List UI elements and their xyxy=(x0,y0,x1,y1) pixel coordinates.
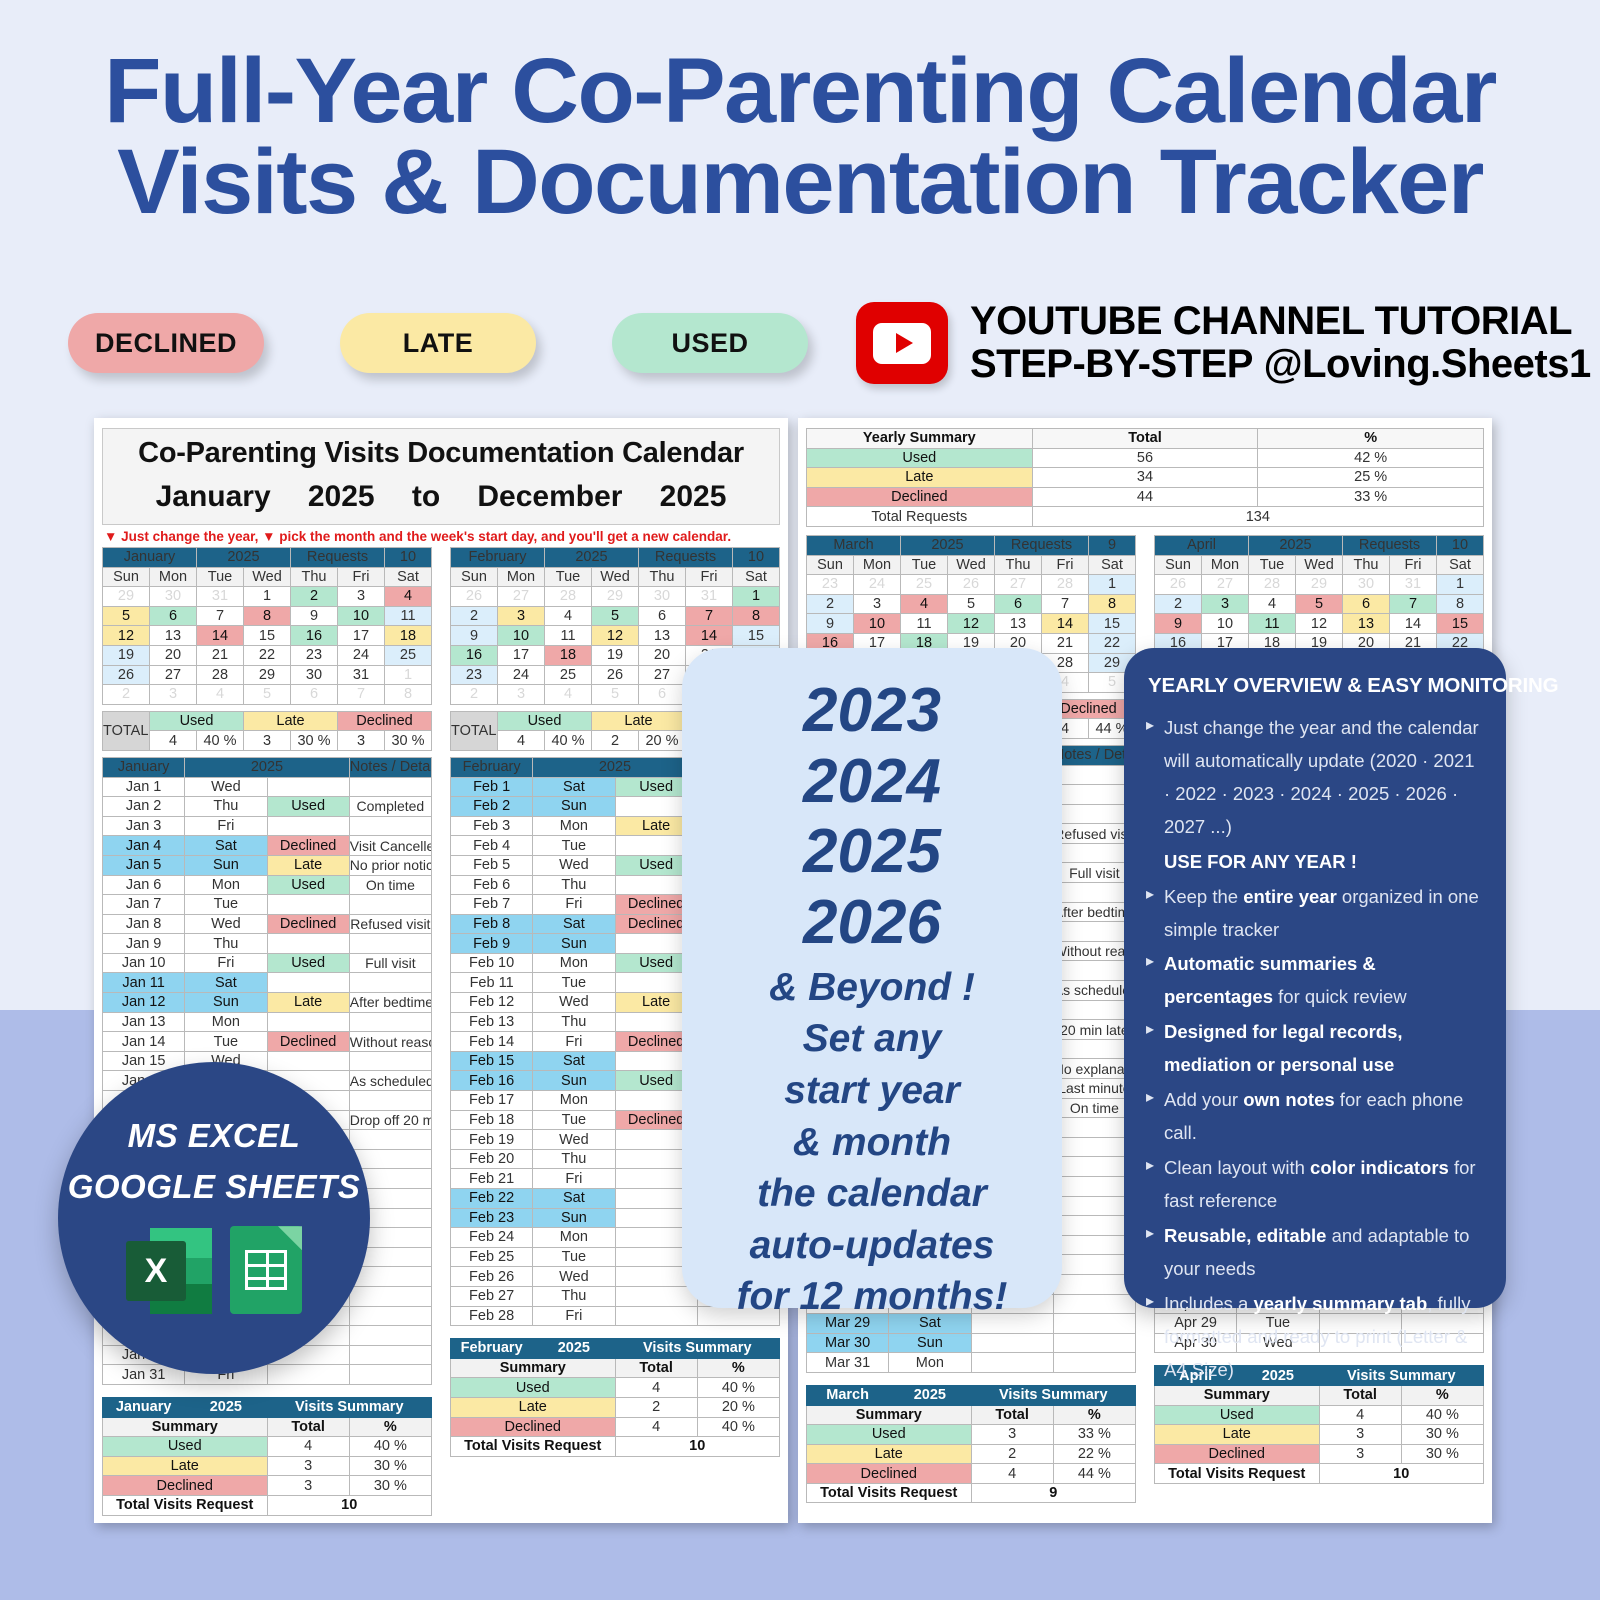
table-row: Declined444 % xyxy=(807,1464,1136,1484)
yearly-summary-pct: 33 % xyxy=(1258,487,1484,507)
notes-status[interactable]: Used xyxy=(267,953,349,973)
yearly-summary-total: 34 xyxy=(1032,468,1258,488)
calendar-day-cell[interactable]: 12 xyxy=(592,626,639,646)
notes-text[interactable]: Without reason xyxy=(349,1032,431,1052)
table-row: 9101112131415 xyxy=(807,614,1136,634)
summary-title: Visits Summary xyxy=(971,1385,1136,1405)
calendar-day-cell[interactable]: 9 xyxy=(291,606,338,626)
callout-sub-line: Set any xyxy=(803,1016,942,1062)
calendar-day-cell[interactable]: 1 xyxy=(385,665,432,685)
calendar-day-cell[interactable]: 24 xyxy=(338,645,385,665)
yearly-summary-header: Total xyxy=(1032,429,1258,449)
totals-label: TOTALS xyxy=(103,711,150,750)
notes-text[interactable] xyxy=(349,1091,431,1111)
notes-dow: Thu xyxy=(185,797,267,817)
calendar-day-cell[interactable]: 1 xyxy=(1437,575,1484,595)
calendar-day-cell[interactable]: 7 xyxy=(686,606,733,626)
calendar-day-cell[interactable]: 3 xyxy=(498,606,545,626)
list-item: Jan 13Mon xyxy=(103,1012,432,1032)
summary-row-label: Used xyxy=(1155,1405,1320,1425)
from-year[interactable]: 2025 xyxy=(308,480,375,514)
to-month[interactable]: December xyxy=(477,480,622,514)
table-row: March2025Requests9 xyxy=(807,535,1136,555)
calendar-day-cell[interactable]: 29 xyxy=(103,587,150,607)
summary-row-total: 3 xyxy=(971,1425,1053,1445)
calendar-dow: Thu xyxy=(995,555,1042,575)
calendar-month-name[interactable]: April xyxy=(1155,535,1249,555)
notes-text[interactable] xyxy=(349,1306,431,1326)
table-row: January2025Requests10 xyxy=(103,548,432,568)
calendar-day-cell[interactable]: 8 xyxy=(733,606,780,626)
calendar-day-cell[interactable]: 4 xyxy=(1249,594,1296,614)
notes-status[interactable] xyxy=(267,895,349,915)
notes-status[interactable] xyxy=(971,1353,1053,1373)
summary-row-total: 2 xyxy=(971,1444,1053,1464)
notes-status[interactable] xyxy=(267,934,349,954)
calendar-day-cell[interactable]: 7 xyxy=(1390,594,1437,614)
table-row: 2324252627281 xyxy=(807,575,1136,595)
calendar-dow: Wed xyxy=(948,555,995,575)
notes-day: Jan 3 xyxy=(103,816,185,836)
calendar-year[interactable]: 2025 xyxy=(901,535,995,555)
notes-day: Feb 20 xyxy=(451,1149,533,1169)
notes-status[interactable] xyxy=(615,1286,697,1306)
notes-status[interactable] xyxy=(267,1365,349,1385)
calendar-day-cell[interactable]: 12 xyxy=(948,614,995,634)
calendar-day-cell[interactable]: 31 xyxy=(197,587,244,607)
calendar-day-cell[interactable]: 25 xyxy=(901,575,948,595)
summary-row-label: Declined xyxy=(807,1464,972,1484)
calendar-day-cell[interactable]: 7 xyxy=(197,606,244,626)
notes-text[interactable] xyxy=(349,934,431,954)
calendar-day-cell[interactable]: 21 xyxy=(1042,633,1089,653)
summary-row-pct: 33 % xyxy=(1053,1425,1135,1445)
calendar-day-cell[interactable]: 29 xyxy=(592,587,639,607)
calendar-day-cell[interactable]: 23 xyxy=(807,575,854,595)
notes-status[interactable] xyxy=(971,1333,1053,1353)
notes-dow: Sun xyxy=(533,1071,615,1091)
calendar-day-cell[interactable]: 27 xyxy=(150,665,197,685)
summary-year: 2025 xyxy=(185,1397,267,1417)
list-item: Jan 11Sat xyxy=(103,973,432,993)
from-month[interactable]: January xyxy=(156,480,271,514)
notes-status[interactable]: Late xyxy=(267,993,349,1013)
calendar-day-cell[interactable]: 28 xyxy=(1042,575,1089,595)
feature-item: Reusable, editable and adaptable to your… xyxy=(1146,1220,1484,1286)
notes-text[interactable]: Visit Cancelled xyxy=(349,836,431,856)
calendar-day-cell[interactable]: 3 xyxy=(150,685,197,705)
calendar-day-cell[interactable]: 5 xyxy=(1296,594,1343,614)
feature-item: Automatic summaries & percentages for qu… xyxy=(1146,948,1484,1014)
yearly-summary-pct: 42 % xyxy=(1258,448,1484,468)
summary-year: 2025 xyxy=(889,1385,971,1405)
calendar-day-cell[interactable]: 16 xyxy=(291,626,338,646)
calendar-day-cell[interactable]: 8 xyxy=(1089,594,1136,614)
totals-late-count: 2 xyxy=(592,731,639,751)
notes-dow: Sun xyxy=(533,1208,615,1228)
calendar-month-name[interactable]: March xyxy=(807,535,901,555)
summary-col-pct: % xyxy=(349,1417,431,1437)
notes-dow: Sat xyxy=(533,914,615,934)
calendar-day-cell[interactable]: 22 xyxy=(1089,633,1136,653)
summary-total-label: Total Visits Request xyxy=(1155,1464,1320,1484)
notes-text[interactable] xyxy=(349,895,431,915)
calendar-day-cell[interactable]: 7 xyxy=(1042,594,1089,614)
notes-dow: Sun xyxy=(533,934,615,954)
notes-dow: Thu xyxy=(533,1012,615,1032)
notes-text[interactable] xyxy=(349,1326,431,1346)
table-row: 2627282930311 xyxy=(1155,575,1484,595)
calendar-day-cell[interactable]: 6 xyxy=(639,685,686,705)
excel-icon: X xyxy=(126,1228,212,1314)
calendar-day-cell[interactable]: 2 xyxy=(291,587,338,607)
calendar-day-cell[interactable]: 12 xyxy=(1296,614,1343,634)
table-row: SummaryTotal% xyxy=(451,1358,780,1378)
calendar-day-cell[interactable]: 20 xyxy=(150,645,197,665)
calendar-day-cell[interactable]: 1 xyxy=(733,587,780,607)
notes-day: Jan 7 xyxy=(103,895,185,915)
calendar-day-cell[interactable]: 2 xyxy=(807,594,854,614)
calendar-day-cell[interactable]: 30 xyxy=(639,587,686,607)
callout-sub-line: for 12 months! xyxy=(737,1274,1008,1320)
to-word: to xyxy=(412,480,440,514)
notes-text[interactable] xyxy=(349,1286,431,1306)
calendar-day-cell[interactable]: 25 xyxy=(385,645,432,665)
sheet-main-title: Co-Parenting Visits Documentation Calend… xyxy=(103,437,779,470)
calendar-day-cell[interactable]: 5 xyxy=(592,685,639,705)
notes-day: Feb 26 xyxy=(451,1267,533,1287)
table-row: 12131415161718 xyxy=(103,626,432,646)
calendar-day-cell[interactable]: 28 xyxy=(545,587,592,607)
calendar-day-cell[interactable]: 10 xyxy=(1202,614,1249,634)
notes-text[interactable]: Completed xyxy=(349,797,431,817)
calendar-day-cell[interactable]: 15 xyxy=(244,626,291,646)
table-row: Declined330 % xyxy=(1155,1444,1484,1464)
calendar-day-cell[interactable]: 20 xyxy=(639,645,686,665)
notes-text[interactable] xyxy=(1053,1333,1135,1353)
calendar-day-cell[interactable]: 29 xyxy=(1296,575,1343,595)
calendar-day-cell[interactable]: 26 xyxy=(1155,575,1202,595)
calendar-day-cell[interactable]: 26 xyxy=(103,665,150,685)
calendar-day-cell[interactable]: 5 xyxy=(592,606,639,626)
notes-day: Feb 15 xyxy=(451,1051,533,1071)
badge-declined: DECLINED xyxy=(68,313,264,373)
calendar-day-cell[interactable]: 17 xyxy=(498,645,545,665)
calendar-day-cell[interactable]: 13 xyxy=(639,626,686,646)
calendar-month-name[interactable]: January xyxy=(103,548,197,568)
calendar-day-cell[interactable]: 27 xyxy=(498,587,545,607)
totals-declined-label: Declined xyxy=(338,711,432,731)
calendar-day-cell[interactable]: 2 xyxy=(451,685,498,705)
notes-day: Feb 21 xyxy=(451,1169,533,1189)
calendar-day-cell[interactable]: 9 xyxy=(1155,614,1202,634)
notes-day: Feb 2 xyxy=(451,797,533,817)
notes-status[interactable]: Declined xyxy=(267,914,349,934)
notes-text[interactable] xyxy=(349,973,431,993)
calendar-day-cell[interactable]: 18 xyxy=(385,626,432,646)
month-column-january: January2025Requests10SunMonTueWedThuFriS… xyxy=(102,547,432,1516)
notes-status[interactable] xyxy=(615,1306,697,1326)
title-line-2: Visits & Documentation Tracker xyxy=(25,137,1575,228)
calendar-day-cell[interactable]: 17 xyxy=(338,626,385,646)
notes-text[interactable] xyxy=(349,1051,431,1071)
table-row: Total Visits Request9 xyxy=(807,1483,1136,1503)
calendar-day-cell[interactable]: 10 xyxy=(854,614,901,634)
notes-dow: Mon xyxy=(533,816,615,836)
summary-row-total: 3 xyxy=(267,1456,349,1476)
calendar-day-cell[interactable]: 11 xyxy=(385,606,432,626)
notes-text[interactable] xyxy=(1053,1314,1135,1334)
calendar-day-cell[interactable]: 9 xyxy=(807,614,854,634)
totals-late-count: 3 xyxy=(244,731,291,751)
calendar-day-cell[interactable]: 16 xyxy=(451,645,498,665)
calendar-day-cell[interactable]: 4 xyxy=(197,685,244,705)
calendar-day-cell[interactable]: 15 xyxy=(1089,614,1136,634)
calendar-day-cell[interactable]: 4 xyxy=(545,606,592,626)
youtube-icon xyxy=(856,302,948,384)
notes-day: Jan 10 xyxy=(103,953,185,973)
totals-late-pct: 30 % xyxy=(291,731,338,751)
calendar-day-cell[interactable]: 14 xyxy=(686,626,733,646)
calendar-day-cell[interactable]: 6 xyxy=(639,606,686,626)
calendar-day-cell[interactable]: 26 xyxy=(948,575,995,595)
calendar-day-cell[interactable]: 11 xyxy=(901,614,948,634)
calendar-day-cell[interactable]: 31 xyxy=(338,665,385,685)
notes-text[interactable]: Full visit xyxy=(349,953,431,973)
notes-status[interactable] xyxy=(267,1012,349,1032)
notes-text[interactable] xyxy=(1053,1294,1135,1314)
calendar-day-cell[interactable]: 3 xyxy=(854,594,901,614)
calendar-day-cell[interactable]: 14 xyxy=(1390,614,1437,634)
calendar-day-cell[interactable]: 2 xyxy=(451,606,498,626)
notes-text[interactable] xyxy=(349,816,431,836)
calendar-day-cell[interactable]: 1 xyxy=(244,587,291,607)
notes-text[interactable] xyxy=(349,777,431,797)
notes-text[interactable] xyxy=(349,1130,431,1150)
calendar-day-cell[interactable]: 26 xyxy=(592,665,639,685)
calendar-day-cell[interactable]: 2 xyxy=(1155,594,1202,614)
calendar-day-cell[interactable]: 30 xyxy=(150,587,197,607)
notes-day: Jan 9 xyxy=(103,934,185,954)
calendar-day-cell[interactable]: 22 xyxy=(244,645,291,665)
yearly-summary-total: 44 xyxy=(1032,487,1258,507)
calendar-day-cell[interactable]: 13 xyxy=(150,626,197,646)
notes-status[interactable]: Used xyxy=(267,797,349,817)
calendar-dow: Sun xyxy=(451,567,498,587)
notes-day: Jan 1 xyxy=(103,777,185,797)
calendar-day-cell[interactable]: 5 xyxy=(103,606,150,626)
notes-text[interactable]: Drop off 20 min late xyxy=(349,1110,431,1130)
calendar-day-cell[interactable]: 31 xyxy=(686,587,733,607)
table-row: March2025Visits Summary xyxy=(807,1385,1136,1405)
excel-letter: X xyxy=(126,1241,186,1301)
calendar-dow: Tue xyxy=(545,567,592,587)
calendar-day-cell[interactable]: 13 xyxy=(995,614,1042,634)
notes-dow: Thu xyxy=(533,1149,615,1169)
calendar-day-cell[interactable]: 30 xyxy=(291,665,338,685)
calendar-day-cell[interactable]: 23 xyxy=(451,665,498,685)
calendar-month-name[interactable]: February xyxy=(451,548,545,568)
notes-day: Feb 1 xyxy=(451,777,533,797)
summary-month: February xyxy=(451,1339,533,1359)
calendar-day-cell[interactable]: 2 xyxy=(103,685,150,705)
calendar-day-cell[interactable]: 24 xyxy=(854,575,901,595)
calendar-day-cell[interactable]: 30 xyxy=(1343,575,1390,595)
sheet-range: January 2025 to December 2025 xyxy=(103,480,779,514)
calendar-dow: Sun xyxy=(807,555,854,575)
notes-text[interactable] xyxy=(349,1012,431,1032)
table-row: April2025Requests10 xyxy=(1155,535,1484,555)
notes-text[interactable]: On time xyxy=(349,875,431,895)
callout-sub-line: auto-updates xyxy=(750,1223,995,1269)
calendar-day-cell[interactable]: 4 xyxy=(901,594,948,614)
notes-text[interactable]: Refused visit xyxy=(349,914,431,934)
table-row: Yearly SummaryTotal% xyxy=(807,429,1484,449)
youtube-line-2: STEP-BY-STEP @Loving.Sheets1 xyxy=(970,343,1591,386)
youtube-line-1: YOUTUBE CHANNEL TUTORIAL xyxy=(970,300,1591,343)
calendar-day-cell[interactable]: 6 xyxy=(995,594,1042,614)
notes-status[interactable] xyxy=(267,816,349,836)
calendar-day-cell[interactable]: 4 xyxy=(545,685,592,705)
calendar-day-cell[interactable]: 27 xyxy=(1202,575,1249,595)
summary-col-label: Summary xyxy=(807,1405,972,1425)
summary-col-label: Summary xyxy=(1155,1385,1320,1405)
calendar-dow: Mon xyxy=(150,567,197,587)
calendar-requests-count: 9 xyxy=(1089,535,1136,555)
calendar-day-cell[interactable]: 13 xyxy=(1343,614,1390,634)
calendar-year[interactable]: 2025 xyxy=(545,548,639,568)
calendar-day-cell[interactable]: 6 xyxy=(150,606,197,626)
yearly-total-value: 134 xyxy=(1032,507,1483,527)
calendar-day-cell[interactable]: 15 xyxy=(1437,614,1484,634)
table-row: 2345678 xyxy=(451,606,780,626)
calendar-day-cell[interactable]: 3 xyxy=(498,685,545,705)
yearly-summary-label: Late xyxy=(807,468,1033,488)
summary-col-total: Total xyxy=(267,1417,349,1437)
summary-col-total: Total xyxy=(971,1405,1053,1425)
calendar-dow: Thu xyxy=(639,567,686,587)
summary-row-label: Late xyxy=(451,1397,616,1417)
calendar-day-cell[interactable]: 27 xyxy=(995,575,1042,595)
calendar-day-cell[interactable]: 9 xyxy=(451,626,498,646)
notes-day: Feb 27 xyxy=(451,1286,533,1306)
calendar-day-cell[interactable]: 3 xyxy=(1202,594,1249,614)
notes-text[interactable]: No prior notice xyxy=(349,855,431,875)
calendar-day-cell[interactable]: 25 xyxy=(545,665,592,685)
calendar-day-cell[interactable]: 23 xyxy=(291,645,338,665)
calendar-day-cell[interactable]: 29 xyxy=(244,665,291,685)
summary-row-total: 3 xyxy=(267,1476,349,1496)
calendar-day-cell[interactable]: 31 xyxy=(1390,575,1437,595)
calendar-dow: Mon xyxy=(854,555,901,575)
calendar-day-cell[interactable]: 11 xyxy=(545,626,592,646)
notes-status[interactable] xyxy=(267,777,349,797)
notes-text[interactable] xyxy=(349,1149,431,1169)
notes-text[interactable] xyxy=(349,1267,431,1287)
calendar-day-cell[interactable]: 3 xyxy=(338,587,385,607)
notes-text[interactable] xyxy=(349,1345,431,1365)
calendar-day-cell[interactable]: 11 xyxy=(1249,614,1296,634)
calendar-day-cell[interactable]: 26 xyxy=(451,587,498,607)
calendar-day-cell[interactable]: 1 xyxy=(1089,575,1136,595)
calendar-day-cell[interactable]: 19 xyxy=(592,645,639,665)
calendar-day-cell[interactable]: 12 xyxy=(103,626,150,646)
calendar-day-cell[interactable]: 24 xyxy=(498,665,545,685)
totals-label: TOTALS xyxy=(451,711,498,750)
table-row: Late3425 % xyxy=(807,468,1484,488)
calendar-day-cell[interactable]: 14 xyxy=(1042,614,1089,634)
calendar-day-cell[interactable]: 4 xyxy=(385,587,432,607)
summary-month: March xyxy=(807,1385,889,1405)
calendar-day-cell[interactable]: 6 xyxy=(1343,594,1390,614)
notes-status[interactable] xyxy=(267,973,349,993)
calendar-year[interactable]: 2025 xyxy=(197,548,291,568)
notes-text[interactable]: As scheduled xyxy=(349,1071,431,1091)
notes-dow: Mon xyxy=(533,1091,615,1111)
calendar-day-cell[interactable]: 18 xyxy=(545,645,592,665)
notes-text[interactable]: After bedtime xyxy=(349,993,431,1013)
feature-item: Just change the year and the calendar wi… xyxy=(1146,712,1484,844)
visits-summary-february: February2025Visits SummarySummaryTotal%U… xyxy=(450,1338,780,1457)
notes-status[interactable] xyxy=(267,1051,349,1071)
notes-status[interactable]: Used xyxy=(267,875,349,895)
notes-text[interactable] xyxy=(349,1365,431,1385)
table-row: 440 %330 %330 % xyxy=(103,731,432,751)
notes-status[interactable]: Declined xyxy=(267,1032,349,1052)
table-row: 19202122232425 xyxy=(103,645,432,665)
notes-status[interactable]: Late xyxy=(267,855,349,875)
calendar-day-cell[interactable]: 10 xyxy=(498,626,545,646)
calendar-dow: Wed xyxy=(1296,555,1343,575)
calendar-requests-label: Requests xyxy=(1343,535,1437,555)
summary-total-value: 10 xyxy=(615,1437,780,1457)
calendar-day-cell[interactable]: 8 xyxy=(385,685,432,705)
calendar-dow: Mon xyxy=(498,567,545,587)
calendar-day-cell[interactable]: 21 xyxy=(197,645,244,665)
notes-details-header: Notes / Details xyxy=(349,757,431,777)
notes-status[interactable]: Declined xyxy=(267,836,349,856)
summary-row-label: Declined xyxy=(451,1417,616,1437)
calendar-day-cell[interactable]: 15 xyxy=(733,626,780,646)
list-item: Jan 10FriUsedFull visit xyxy=(103,953,432,973)
notes-year: 2025 xyxy=(185,757,350,777)
calendar-day-cell[interactable]: 6 xyxy=(291,685,338,705)
notes-day: Feb 5 xyxy=(451,855,533,875)
calendar-day-cell[interactable]: 27 xyxy=(639,665,686,685)
calendar-day-cell[interactable]: 8 xyxy=(1437,594,1484,614)
calendar-day-cell[interactable]: 7 xyxy=(338,685,385,705)
calendar-day-cell[interactable]: 28 xyxy=(197,665,244,685)
calendar-day-cell[interactable]: 19 xyxy=(103,645,150,665)
calendar-day-cell[interactable]: 14 xyxy=(197,626,244,646)
to-year[interactable]: 2025 xyxy=(660,480,727,514)
calendar-day-cell[interactable]: 5 xyxy=(948,594,995,614)
table-row: 2345678 xyxy=(103,685,432,705)
badge-late: LATE xyxy=(340,313,536,373)
google-sheets-icon xyxy=(230,1226,302,1314)
calendar-day-cell[interactable]: 8 xyxy=(244,606,291,626)
calendar-day-cell[interactable]: 10 xyxy=(338,606,385,626)
notes-text[interactable] xyxy=(1053,1353,1135,1373)
table-row: SummaryTotal% xyxy=(103,1417,432,1437)
notes-day: Mar 30 xyxy=(807,1333,889,1353)
summary-row-label: Late xyxy=(103,1456,268,1476)
calendar-year[interactable]: 2025 xyxy=(1249,535,1343,555)
calendar-day-cell[interactable]: 28 xyxy=(1249,575,1296,595)
notes-day: Feb 6 xyxy=(451,875,533,895)
summary-row-pct: 40 % xyxy=(697,1378,779,1398)
calendar-day-cell[interactable]: 5 xyxy=(244,685,291,705)
